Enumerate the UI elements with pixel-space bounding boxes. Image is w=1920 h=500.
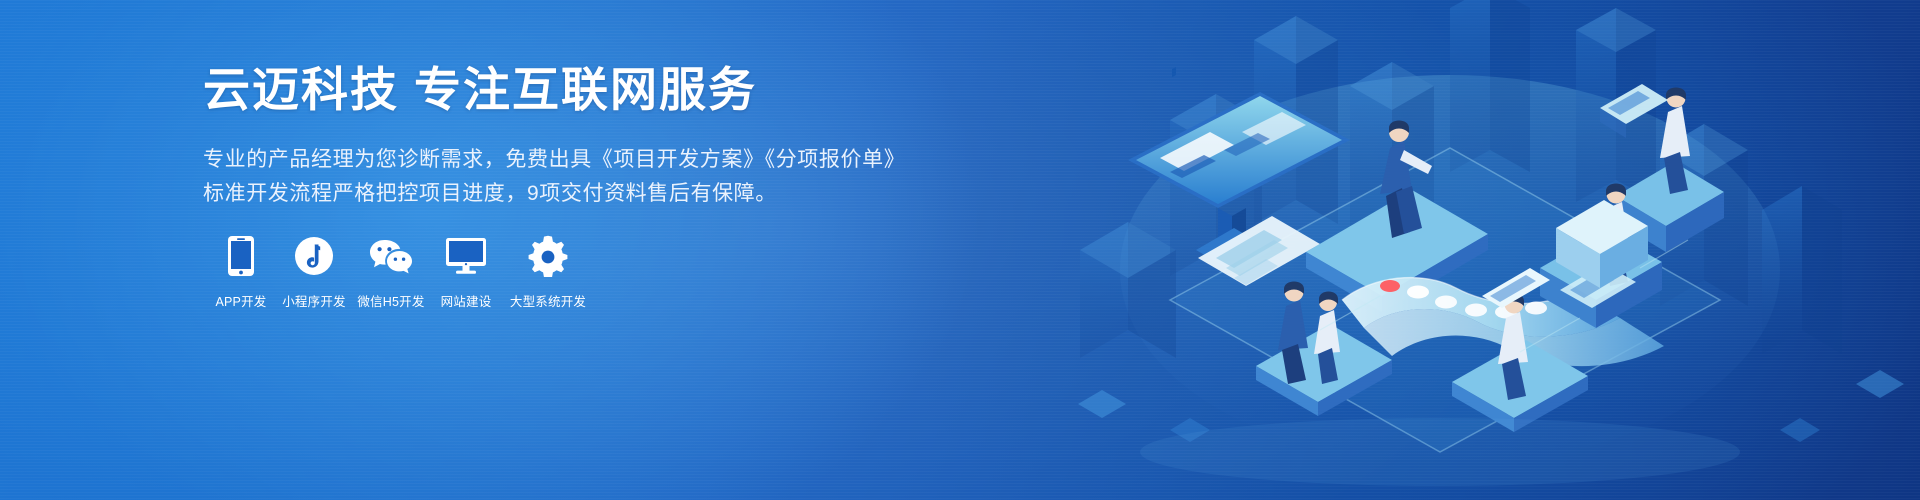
service-label: 小程序开发 <box>282 291 346 310</box>
service-item-mini-program[interactable]: 小程序开发 <box>277 233 351 310</box>
subtitle-line-2: 标准开发流程严格把控项目进度，9项交付资料售后有保障。 <box>203 177 963 211</box>
ribbon-highlight-dot <box>1380 280 1400 292</box>
wechat-icon <box>368 233 414 279</box>
mini-program-icon <box>294 233 334 279</box>
service-list: APP开发 小程序开发 <box>206 233 595 310</box>
subtitle-line-1: 专业的产品经理为您诊断需求，免费出具《项目开发方案》《分项报价单》 <box>203 143 963 177</box>
monitor-icon <box>445 233 487 279</box>
service-item-app[interactable]: APP开发 <box>206 233 276 310</box>
mobile-phone-icon <box>227 233 255 279</box>
hero-banner: 云迈科技 专注互联网服务 专业的产品经理为您诊断需求，免费出具《项目开发方案》《… <box>0 0 1920 500</box>
service-item-website[interactable]: 网站建设 <box>431 233 501 310</box>
service-item-wechat[interactable]: 微信H5开发 <box>352 233 430 310</box>
isometric-illustration <box>1020 0 1920 500</box>
service-label: 微信H5开发 <box>357 291 424 310</box>
banner-copy: 云迈科技 专注互联网服务 专业的产品经理为您诊断需求，免费出具《项目开发方案》《… <box>203 64 963 211</box>
ground-reflection <box>1140 418 1740 486</box>
banner-subtitle: 专业的产品经理为您诊断需求，免费出具《项目开发方案》《分项报价单》 标准开发流程… <box>203 143 963 211</box>
gear-icon <box>527 233 569 279</box>
service-label: APP开发 <box>215 291 266 310</box>
page-title: 云迈科技 专注互联网服务 <box>203 64 963 117</box>
service-item-large-system[interactable]: 大型系统开发 <box>502 233 594 310</box>
service-label: 网站建设 <box>441 291 492 310</box>
service-label: 大型系统开发 <box>510 291 586 310</box>
